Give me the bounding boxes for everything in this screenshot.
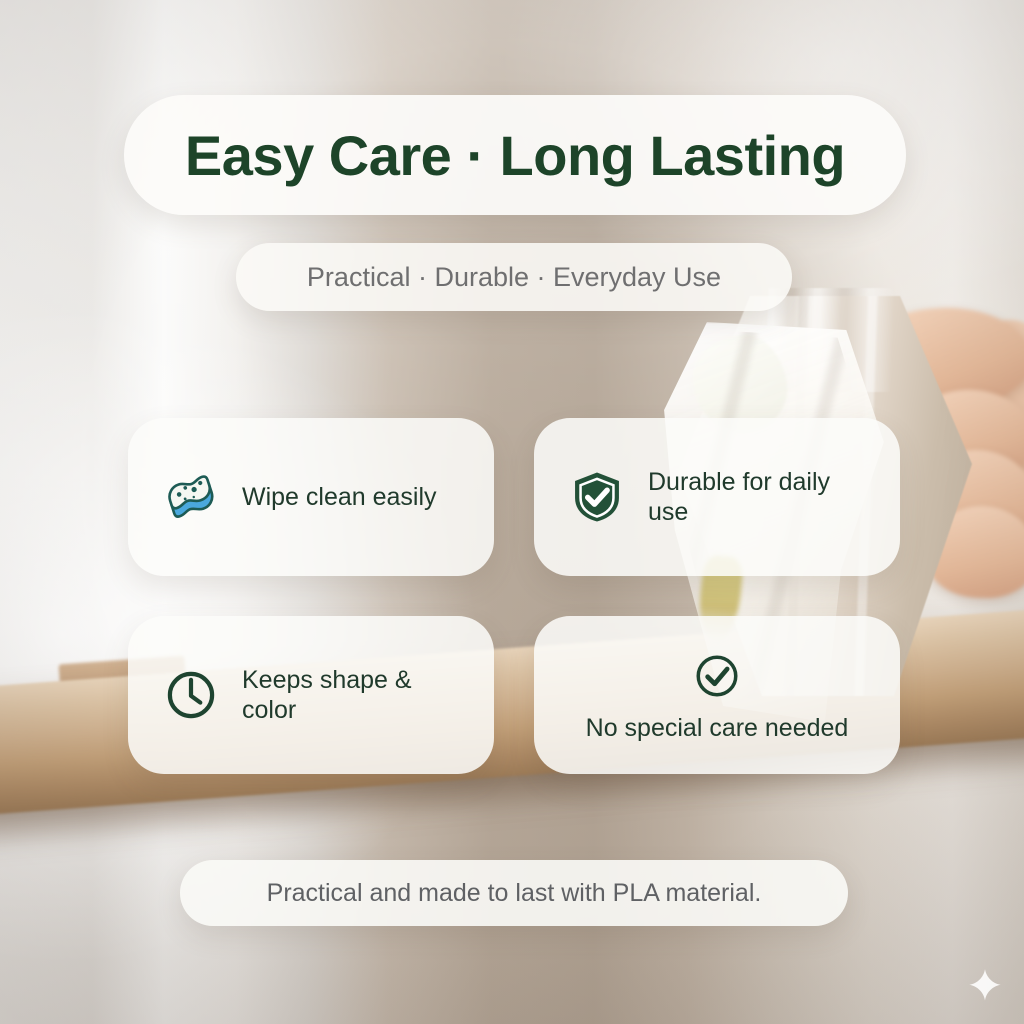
feature-label: Wipe clean easily xyxy=(242,482,437,512)
footer-text: Practical and made to last with PLA mate… xyxy=(267,879,762,908)
feature-card-wipe-clean[interactable]: Wipe clean easily xyxy=(128,418,494,576)
clock-icon xyxy=(162,666,220,724)
feature-label: No special care needed xyxy=(586,713,849,743)
shield-check-icon xyxy=(568,468,626,526)
poster-canvas: Easy Care · Long Lasting Practical · Dur… xyxy=(0,0,1024,1024)
feature-label: Keeps shape & color xyxy=(242,665,460,725)
check-circle-icon xyxy=(688,647,746,705)
page-subtitle: Practical · Durable · Everyday Use xyxy=(307,262,721,293)
poster-content: Easy Care · Long Lasting Practical · Dur… xyxy=(0,0,1024,1024)
feature-grid: Wipe clean easily Durable for daily use xyxy=(128,418,900,774)
feature-card-keeps-shape[interactable]: Keeps shape & color xyxy=(128,616,494,774)
sponge-icon xyxy=(162,468,220,526)
page-title: Easy Care · Long Lasting xyxy=(185,123,845,188)
title-pill: Easy Care · Long Lasting xyxy=(124,95,906,215)
feature-label: Durable for daily use xyxy=(648,467,866,527)
sparkle-icon xyxy=(968,968,1002,1002)
feature-card-durable[interactable]: Durable for daily use xyxy=(534,418,900,576)
subtitle-pill: Practical · Durable · Everyday Use xyxy=(236,243,792,311)
footer-pill: Practical and made to last with PLA mate… xyxy=(180,860,848,926)
feature-card-no-special-care[interactable]: No special care needed xyxy=(534,616,900,774)
